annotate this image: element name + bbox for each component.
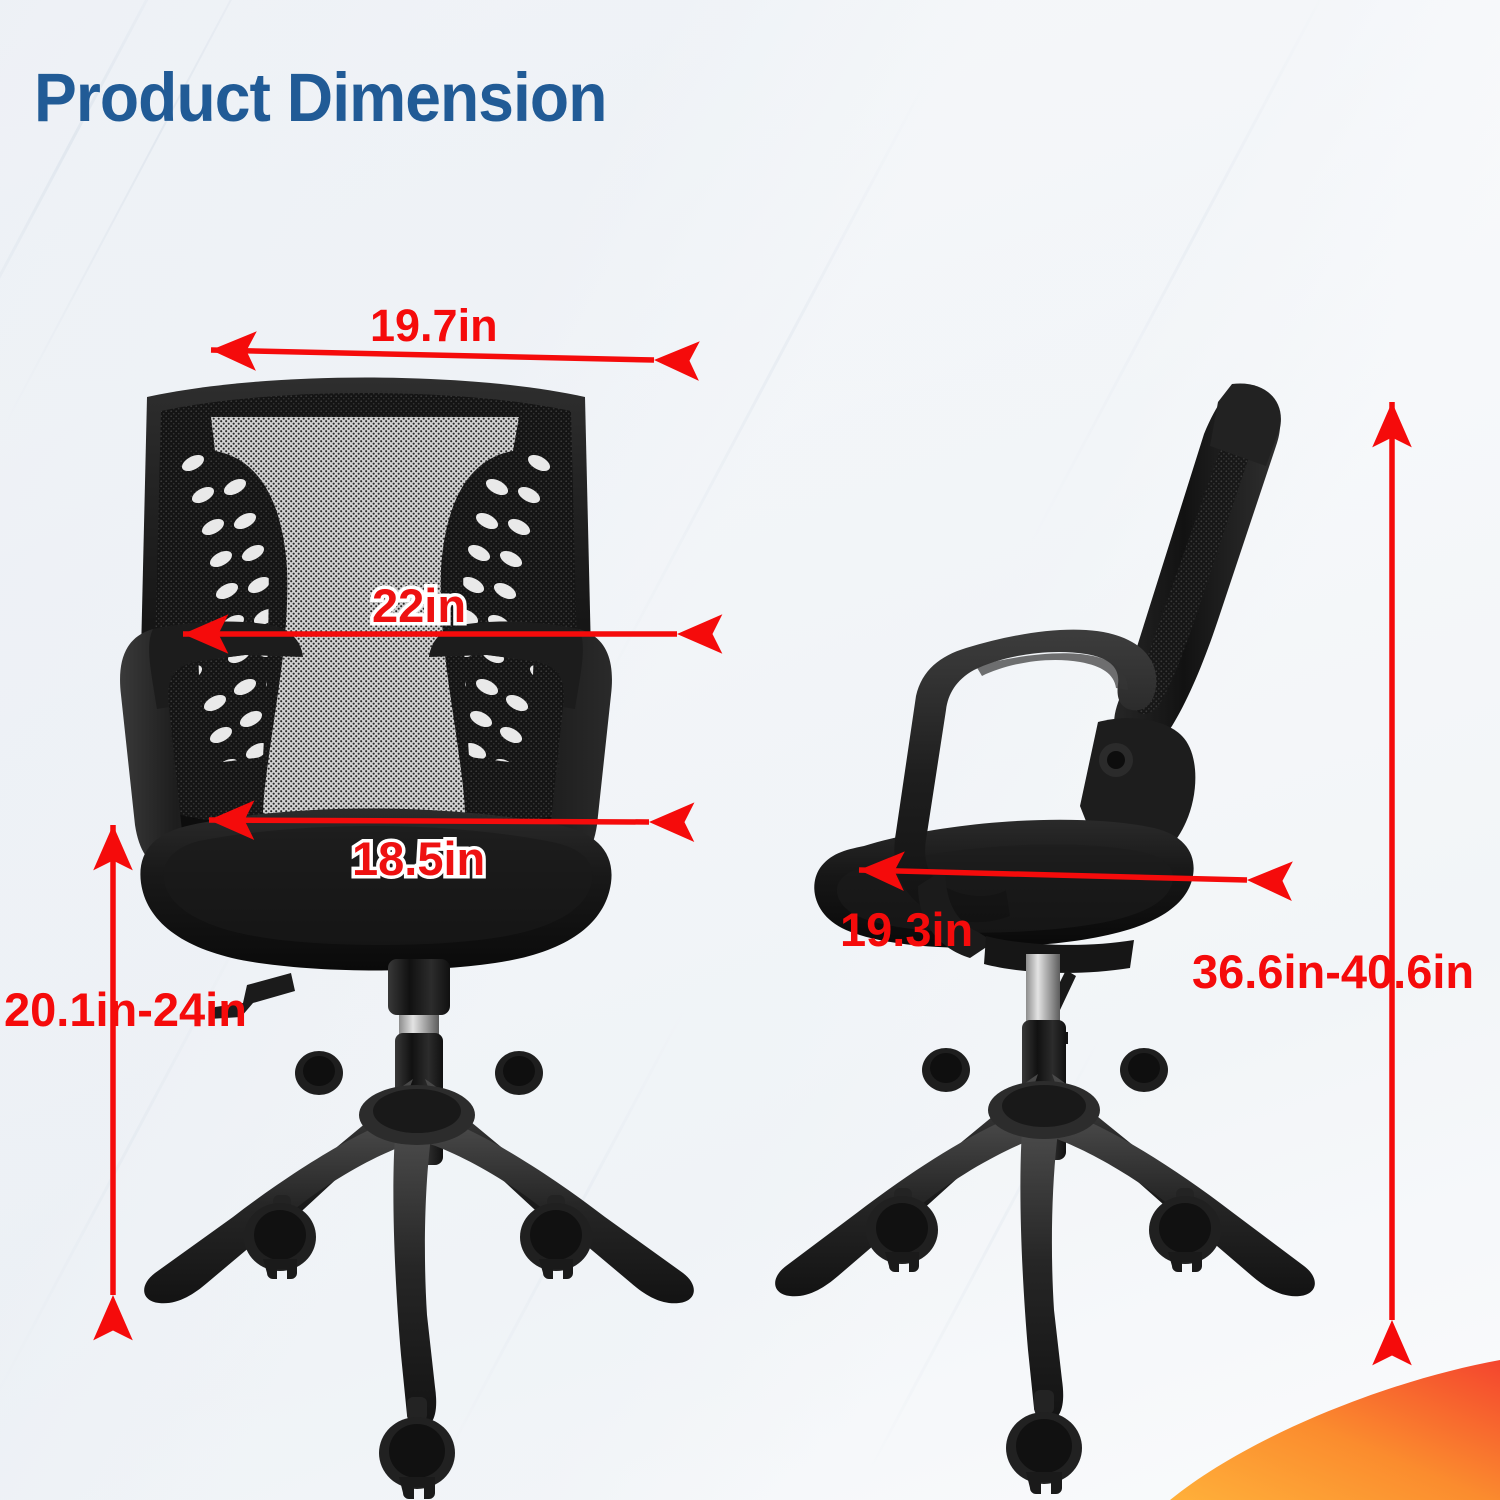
overall-height-label: 36.6in-40.6in bbox=[1192, 944, 1474, 999]
corner-accent-swoosh bbox=[1030, 1260, 1500, 1500]
seat-width-label: 18.5in bbox=[352, 831, 485, 886]
overall-width-label: 22in bbox=[372, 578, 466, 633]
side-chrome-collar bbox=[1026, 954, 1060, 1028]
side-chair-illustration bbox=[780, 370, 1400, 1320]
seat-depth-label: 19.3in bbox=[840, 902, 973, 957]
seat-width-arrow bbox=[198, 808, 662, 832]
front-chair-base bbox=[144, 1079, 694, 1429]
seat-depth-arrow bbox=[848, 862, 1260, 886]
seat-height-arrow bbox=[100, 815, 128, 1307]
backrest-width-label: 19.7in bbox=[370, 300, 498, 352]
seat-tilt-knob bbox=[388, 959, 450, 1015]
product-dimension-canvas: Product Dimension bbox=[0, 0, 1500, 1500]
seat-height-label: 20.1in-24in bbox=[4, 982, 247, 1037]
page-title: Product Dimension bbox=[34, 58, 606, 137]
overall-height-arrow bbox=[1379, 392, 1407, 1332]
